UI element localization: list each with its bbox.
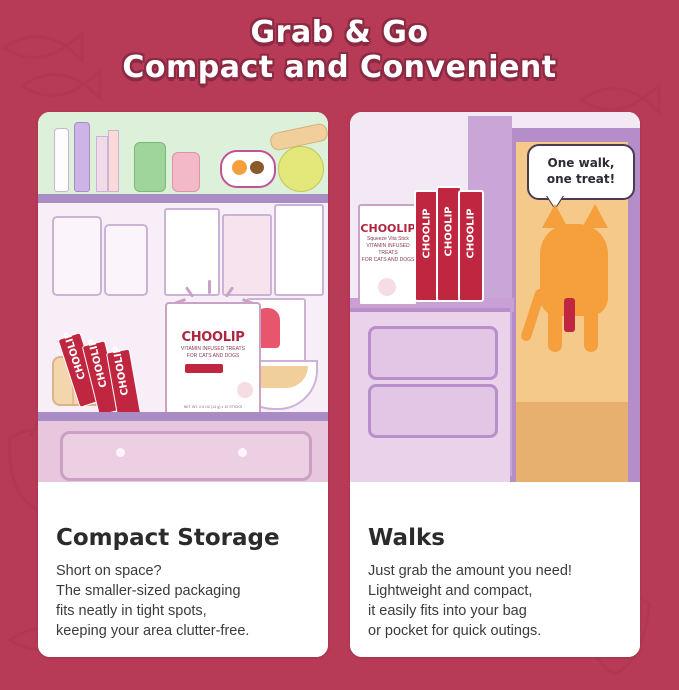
product-subtitle: VITAMIN INFUSED TREATS FOR CATS AND DOGS [167, 346, 259, 360]
drawer-knob-right [238, 448, 247, 457]
heart-badge [237, 382, 253, 398]
book-stack-2 [108, 130, 119, 192]
package-heart-badge [378, 278, 396, 296]
cabinet-panel-bottom [368, 384, 498, 438]
heading-line-2: Compact and Convenient [0, 50, 679, 86]
card-walks[interactable]: One walk, one treat! CHOOLIP Squeeze Vit… [350, 112, 640, 657]
carton-white [164, 208, 220, 296]
carton-pink [222, 214, 272, 296]
tennis-ball [278, 146, 324, 192]
cat-leg-right [584, 308, 598, 352]
card-compact-storage[interactable]: CHOOLIP VITAMIN INFUSED TREATS FOR CATS … [38, 112, 328, 657]
bottle-purple [74, 122, 90, 192]
carton-tall [274, 204, 324, 296]
jar-pink [172, 152, 200, 192]
shelf-divider-bottom [38, 412, 328, 421]
package-subtitle: Squeeze Vita Stick VITAMIN INFUSED TREAT… [360, 236, 416, 264]
card-body-walks: Just grab the amount you need! Lightweig… [368, 561, 622, 641]
package-brand-label: CHOOLIP [360, 222, 416, 235]
product-box: CHOOLIP VITAMIN INFUSED TREATS FOR CATS … [165, 302, 261, 416]
outdoor-floor [516, 402, 628, 482]
pantry-shelf-illustration: CHOOLIP VITAMIN INFUSED TREATS FOR CATS … [38, 112, 328, 482]
drawer [38, 421, 328, 482]
product-package: CHOOLIP Squeeze Vita Stick VITAMIN INFUS… [358, 204, 418, 306]
product-stick-graphic [185, 364, 223, 373]
glass-jar-right [104, 224, 148, 296]
speech-bubble: One walk, one treat! [527, 144, 635, 200]
book-stack [96, 136, 108, 192]
card-text-compact-storage: Compact Storage Short on space? The smal… [38, 511, 328, 657]
card-text-walks: Walks Just grab the amount you need! Lig… [350, 511, 640, 657]
card-body-compact-storage: Short on space? The smaller-sized packag… [56, 561, 310, 641]
treat-box-3: CHOOLIP [458, 190, 484, 302]
heading-line-1: Grab & Go [0, 16, 679, 50]
glass-jar-left [52, 216, 102, 296]
bottle-white [54, 128, 69, 192]
cat-leg-left [548, 308, 562, 352]
sparkle-1 [208, 280, 211, 294]
page-heading: Grab & Go Compact and Convenient [0, 16, 679, 86]
doorway-walk-illustration: One walk, one treat! CHOOLIP Squeeze Vit… [350, 112, 640, 482]
cat-held-treat-stick [564, 298, 575, 332]
card-title-walks: Walks [368, 525, 622, 551]
jar-green [134, 142, 166, 192]
card-title-compact-storage: Compact Storage [56, 525, 310, 551]
drawer-knob-left [116, 448, 125, 457]
cat-face-badge [220, 150, 276, 188]
product-footer-text: NET WT. 0.5 OZ (14 g) x 10 STICKS [167, 405, 259, 409]
product-brand-label: CHOOLIP [167, 330, 259, 345]
cabinet-panel-top [368, 326, 498, 380]
shelf-divider-top [38, 194, 328, 203]
